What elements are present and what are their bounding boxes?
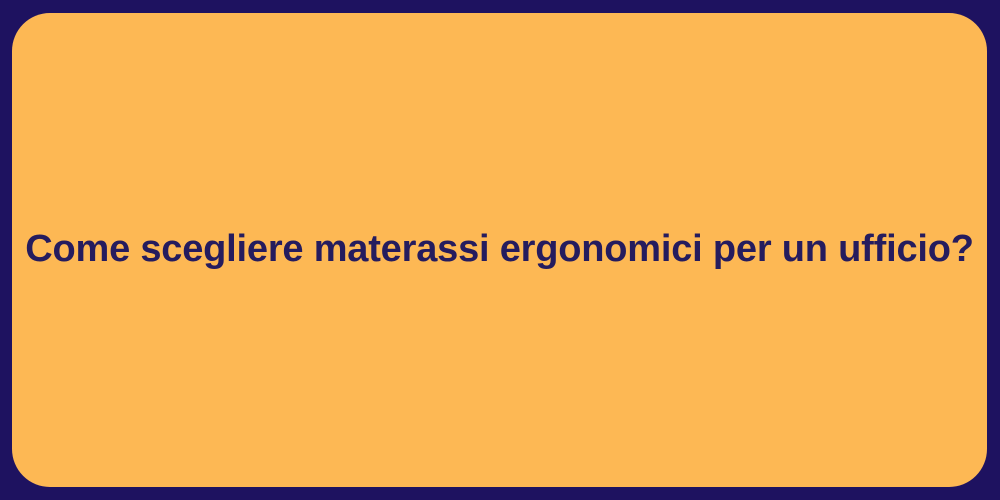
headline-card: Come scegliere materassi ergonomici per … bbox=[12, 13, 987, 487]
page-canvas: Come scegliere materassi ergonomici per … bbox=[0, 0, 1000, 500]
card-headline: Come scegliere materassi ergonomici per … bbox=[25, 226, 974, 274]
